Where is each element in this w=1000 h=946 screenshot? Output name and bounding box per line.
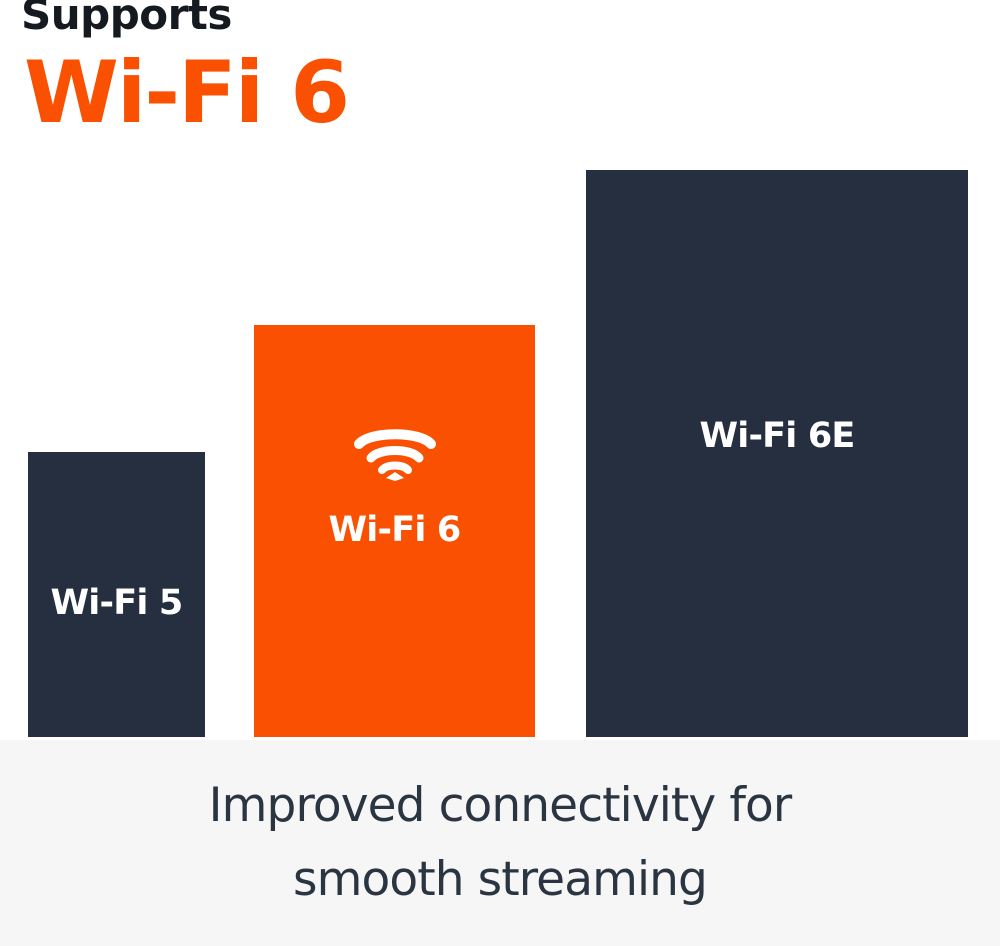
caption-line-1: Improved connectivity for [209,769,792,843]
bar-wifi-6e: Wi-Fi 6E [586,170,968,737]
bar-chart: Wi-Fi 5 Wi-Fi 6 Wi-Fi 6E [0,0,1000,740]
wifi6-feature-graphic: Supports Wi-Fi 6 Wi-Fi 5 Wi-Fi 6 Wi- [0,0,1000,946]
bar-label-wifi-6: Wi-Fi 6 [254,513,535,548]
bar-wifi-5: Wi-Fi 5 [28,452,205,737]
caption-line-2: smooth streaming [293,843,707,917]
bar-label-wifi-6e: Wi-Fi 6E [586,419,968,454]
caption-panel: Improved connectivity for smooth streami… [0,740,1000,946]
wifi-icon [254,425,535,481]
bar-wifi-6: Wi-Fi 6 [254,325,535,737]
bar-label-wifi-5: Wi-Fi 5 [28,586,205,621]
